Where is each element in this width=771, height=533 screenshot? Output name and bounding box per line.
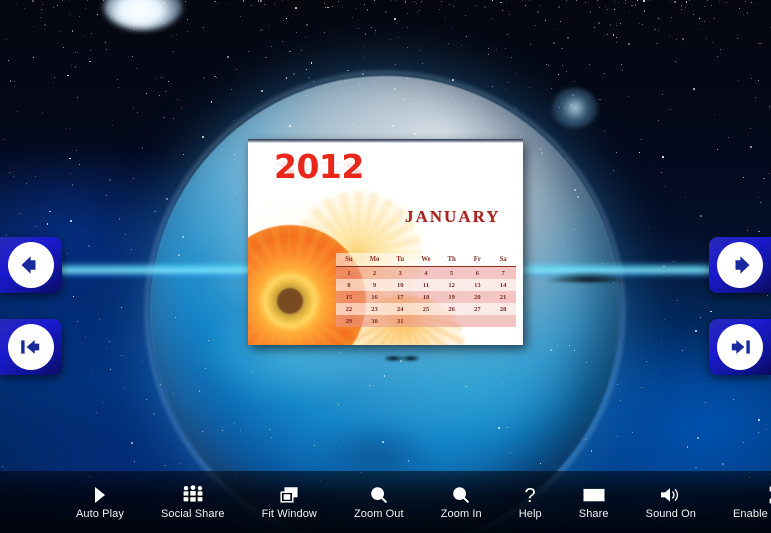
question-mark-icon: ?	[522, 485, 538, 505]
calendar-day: 16	[362, 291, 388, 303]
calendar-day: 31	[387, 315, 413, 327]
magnifier-plus-icon	[451, 485, 471, 505]
calendar-day: 3	[387, 267, 413, 280]
calendar-week-row: 15 16 17 18 19 20 21	[336, 291, 516, 303]
toolbar-label: Share	[579, 508, 609, 520]
star-cluster	[552, 88, 598, 128]
envelope-icon	[583, 485, 605, 505]
calendar-day: 8	[336, 279, 362, 291]
calendar-week-row: 8 9 10 11 12 13 14	[336, 279, 516, 291]
calendar-page[interactable]: 2012 2012 JANUARY Su Mo Tu We Th Fr Sa 1…	[248, 139, 523, 345]
calendar-day: 11	[413, 279, 439, 291]
calendar-week-row: 1 2 3 4 5 6 7	[336, 267, 516, 280]
weekday-header-th: Th	[439, 253, 465, 267]
tree-silhouette	[540, 252, 660, 282]
calendar-day	[465, 315, 491, 327]
toolbar-label: Zoom In	[441, 508, 482, 520]
weekday-header-fr: Fr	[465, 253, 491, 267]
toolbar-label: Fit Window	[262, 508, 317, 520]
magnifier-minus-icon	[369, 485, 389, 505]
toolbar-label: Zoom Out	[354, 508, 404, 520]
calendar-day: 23	[362, 303, 388, 315]
toolbar-label: Auto Play	[76, 508, 124, 520]
calendar-header-row: Su Mo Tu We Th Fr Sa	[336, 253, 516, 267]
calendar-day: 26	[439, 303, 465, 315]
calendar-day	[413, 315, 439, 327]
toolbar-label: Sound On	[646, 508, 696, 520]
toolbar-button-share[interactable]: Share	[575, 485, 613, 520]
people-group-icon	[182, 485, 204, 505]
arrow-right-circle-icon	[717, 242, 763, 288]
calendar-day: 2	[362, 267, 388, 280]
arrow-right-to-bar-icon	[717, 324, 763, 370]
calendar-day: 29	[336, 315, 362, 327]
toolbar-label: Social Share	[161, 508, 225, 520]
toolbar-label: Enable FullScreen	[733, 508, 771, 520]
next-page-button[interactable]	[709, 237, 771, 293]
weekday-header-sa: Sa	[490, 253, 516, 267]
toolbar-button-sound-on[interactable]: Sound On	[642, 485, 700, 520]
weekday-header-we: We	[413, 253, 439, 267]
toolbar-label: Help	[519, 508, 542, 520]
calendar-day: 21	[490, 291, 516, 303]
calendar-day	[490, 315, 516, 327]
page-month: JANUARY	[405, 207, 501, 227]
calendar-day: 20	[465, 291, 491, 303]
calendar-day: 22	[336, 303, 362, 315]
previous-page-button[interactable]	[0, 237, 62, 293]
calendar-week-row: 29 30 31	[336, 315, 516, 327]
first-page-button[interactable]	[0, 319, 62, 375]
page-top-edge-shadow	[248, 139, 523, 143]
toolbar-button-zoom-in[interactable]: Zoom In	[437, 485, 486, 520]
weekday-header-mo: Mo	[362, 253, 388, 267]
calendar-day: 19	[439, 291, 465, 303]
calendar-day: 18	[413, 291, 439, 303]
calendar-table: Su Mo Tu We Th Fr Sa 1 2 3 4 5 6 7	[336, 253, 516, 327]
calendar-day: 13	[465, 279, 491, 291]
toolbar-button-zoom-out[interactable]: Zoom Out	[350, 485, 408, 520]
bottom-toolbar: Auto Play Social Share	[0, 471, 771, 533]
arrow-left-to-bar-icon	[8, 324, 54, 370]
speaker-on-icon	[659, 485, 683, 505]
calendar-day: 5	[439, 267, 465, 280]
calendar-day: 7	[490, 267, 516, 280]
bird-silhouette	[385, 350, 419, 364]
viewer-stage: 2012 2012 JANUARY Su Mo Tu We Th Fr Sa 1…	[0, 0, 771, 533]
arrow-left-circle-icon	[8, 242, 54, 288]
calendar-day: 28	[490, 303, 516, 315]
toolbar-button-fit-window[interactable]: Fit Window	[258, 485, 321, 520]
toolbar-button-social-share[interactable]: Social Share	[157, 485, 229, 520]
page-year: 2012	[274, 150, 364, 183]
calendar-day	[439, 315, 465, 327]
calendar-day: 10	[387, 279, 413, 291]
calendar-day: 15	[336, 291, 362, 303]
svg-text:?: ?	[525, 485, 536, 505]
calendar-day: 9	[362, 279, 388, 291]
weekday-header-su: Su	[336, 253, 362, 267]
weekday-header-tu: Tu	[387, 253, 413, 267]
toolbar-button-auto-play[interactable]: Auto Play	[72, 485, 128, 520]
toolbar-button-help[interactable]: ? Help	[515, 485, 546, 520]
toolbar-button-enable-fullscreen[interactable]: Enable FullScreen	[729, 485, 771, 520]
calendar-day: 17	[387, 291, 413, 303]
calendar-day: 14	[490, 279, 516, 291]
calendar-day: 4	[413, 267, 439, 280]
last-page-button[interactable]	[709, 319, 771, 375]
calendar-day: 6	[465, 267, 491, 280]
calendar-day: 27	[465, 303, 491, 315]
calendar-day: 25	[413, 303, 439, 315]
calendar-day: 30	[362, 315, 388, 327]
overlapping-windows-icon	[279, 485, 299, 505]
play-icon	[92, 485, 108, 505]
calendar-week-row: 22 23 24 25 26 27 28	[336, 303, 516, 315]
calendar-day: 1	[336, 267, 362, 280]
calendar-day: 24	[387, 303, 413, 315]
calendar-day: 12	[439, 279, 465, 291]
